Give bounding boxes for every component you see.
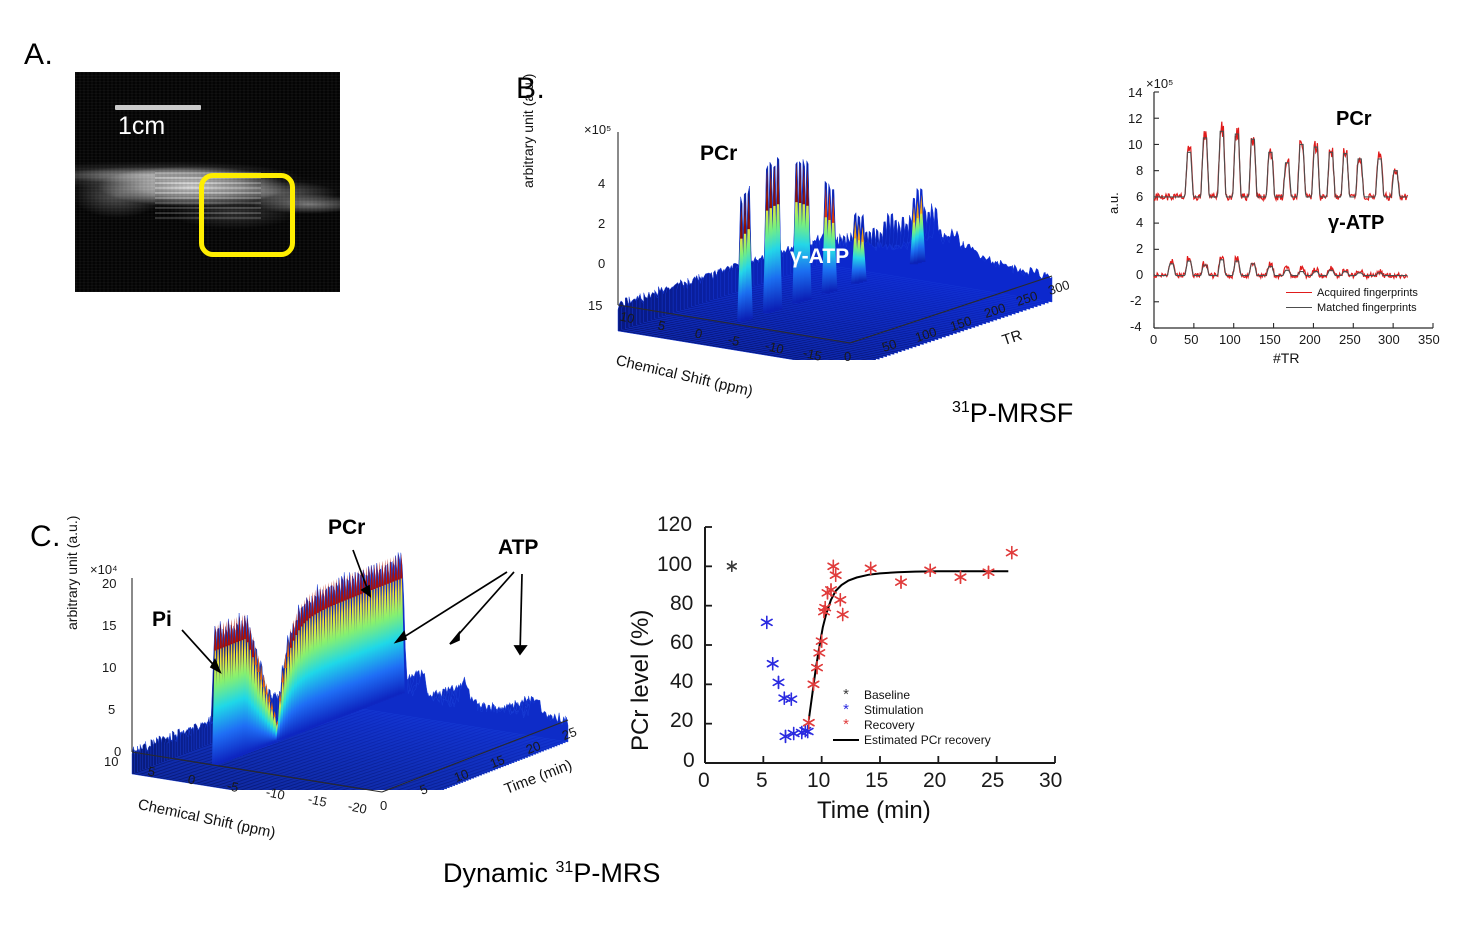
b-right-xtick-100: 100 (1219, 332, 1241, 347)
b-right-xtick-350: 350 (1418, 332, 1440, 347)
b-left-ytick-0: 0 (844, 349, 851, 364)
b-right-xtick-150: 150 (1259, 332, 1281, 347)
legend-item-acquired: Acquired fingerprints (1286, 285, 1418, 300)
legend-item-matched: Matched fingerprints (1286, 300, 1418, 315)
c-right-xtick-25: 25 (981, 769, 1004, 793)
c-left-ytick-0: 0 (380, 798, 387, 813)
panel-c-caption-text: P-MRS (573, 858, 660, 888)
b-right-ytick-4: 4 (1136, 215, 1143, 230)
legend-swatch-estimated-line (833, 739, 859, 741)
legend-label-baseline: Baseline (864, 688, 910, 702)
c-right-ytick-120: 120 (657, 513, 692, 537)
legend-swatch-baseline-marker: * (833, 687, 859, 702)
c-left-annotation-atp: ATP (498, 536, 538, 560)
b-right-annotation-gatp: γ-ATP (1328, 212, 1384, 235)
legend-label-recovery: Recovery (864, 718, 915, 732)
b-right-ytick-0: 0 (1136, 267, 1143, 282)
b-left-xtick-15: 15 (588, 298, 602, 313)
legend-label-matched: Matched fingerprints (1317, 302, 1417, 314)
legend-swatch-acquired-line (1286, 292, 1312, 293)
roi-box (199, 173, 295, 257)
c-left-ztick-10: 10 (102, 660, 116, 675)
chart-c-right-scatter: PCr level (%) 120 100 80 60 40 20 0 0 5 … (625, 505, 1085, 835)
c-right-ytick-100: 100 (657, 553, 692, 577)
c-right-xtick-10: 10 (807, 769, 830, 793)
c-left-ztick-5: 5 (108, 702, 115, 717)
panel-c-letter: C. (30, 520, 61, 554)
chart-b-right-fingerprints: ×10⁵ a.u. 14 12 10 8 6 4 2 0 -2 -4 0 50 … (1118, 80, 1448, 390)
c-left-annotation-pcr: PCr (328, 516, 365, 540)
b-right-xtick-250: 250 (1339, 332, 1361, 347)
b-left-annotation-gatp: γ-ATP (790, 245, 849, 269)
b-left-annotation-pcr: PCr (700, 142, 737, 166)
panel-a-letter: A. (24, 38, 53, 72)
scale-bar-label: 1cm (118, 112, 165, 141)
panel-c-caption-sup: 31 (556, 859, 574, 876)
b-right-xtick-300: 300 (1378, 332, 1400, 347)
panel-c-caption-prefix: Dynamic (443, 858, 556, 888)
b-right-legend: Acquired fingerprints Matched fingerprin… (1286, 285, 1418, 315)
c-right-xaxis-label: Time (min) (817, 797, 931, 825)
chart-b-left-surface: ×10⁵ arbitrary unit (a.u.) (560, 100, 1080, 390)
chart-c-left-surface: ×10⁴ arbitrary unit (a.u.) (70, 520, 600, 830)
c-left-annotation-pi: Pi (152, 608, 172, 632)
b-right-ytick-8: 8 (1136, 163, 1143, 178)
c-right-xtick-30: 30 (1039, 769, 1062, 793)
b-right-ytick-6: 6 (1136, 189, 1143, 204)
c-right-xtick-20: 20 (923, 769, 946, 793)
legend-item-recovery: * Recovery (833, 717, 991, 732)
c-right-plot-svg (625, 505, 1085, 835)
c-right-ytick-0: 0 (683, 749, 695, 773)
b-right-xtick-200: 200 (1299, 332, 1321, 347)
panel-b-caption: 31P-MRSF (952, 398, 1073, 429)
legend-label-acquired: Acquired fingerprints (1317, 287, 1418, 299)
b-right-annotation-pcr: PCr (1336, 108, 1372, 131)
b-left-ztick-0: 0 (598, 256, 605, 271)
legend-swatch-recovery-marker: * (833, 717, 859, 732)
legend-item-baseline: * Baseline (833, 687, 991, 702)
c-right-xtick-15: 15 (865, 769, 888, 793)
c-left-xtick-10: 10 (104, 754, 118, 769)
c-right-ytick-80: 80 (670, 592, 693, 616)
c-right-ytick-40: 40 (670, 670, 693, 694)
legend-label-stimulation: Stimulation (864, 703, 923, 717)
scale-bar (115, 105, 201, 110)
panel-c-caption: Dynamic 31P-MRS (443, 858, 660, 889)
b-right-xtick-50: 50 (1184, 332, 1198, 347)
b-left-ztick-4: 4 (598, 176, 605, 191)
b-right-xtick-0: 0 (1150, 332, 1157, 347)
legend-item-stimulation: * Stimulation (833, 702, 991, 717)
c-right-ytick-60: 60 (670, 631, 693, 655)
legend-label-estimated: Estimated PCr recovery (864, 733, 991, 747)
panel-b-caption-text: P-MRSF (970, 398, 1074, 428)
c-left-ztick-20: 20 (102, 576, 116, 591)
c-left-ztick-15: 15 (102, 618, 116, 633)
b-left-ztick-2: 2 (598, 216, 605, 231)
b-right-ytick-12: 12 (1128, 111, 1142, 126)
c-right-ytick-20: 20 (670, 709, 693, 733)
c-right-xtick-0: 0 (698, 769, 710, 793)
b-right-ytick-m2: -2 (1130, 293, 1142, 308)
b-right-xaxis-label: #TR (1273, 350, 1299, 366)
b-right-ytick-14: 14 (1128, 85, 1142, 100)
b-left-zaxis-label: arbitrary unit (a.u.) (520, 74, 536, 188)
panel-b-caption-sup: 31 (952, 399, 970, 416)
legend-item-estimated: Estimated PCr recovery (833, 732, 991, 747)
b-right-ytick-2: 2 (1136, 241, 1143, 256)
c-right-xtick-5: 5 (756, 769, 768, 793)
legend-swatch-stimulation-marker: * (833, 702, 859, 717)
b-right-ytick-10: 10 (1128, 137, 1142, 152)
legend-swatch-matched-line (1286, 307, 1312, 308)
b-right-ytick-m4: -4 (1130, 319, 1142, 334)
c-right-legend: * Baseline * Stimulation * Recovery Esti… (833, 687, 991, 747)
